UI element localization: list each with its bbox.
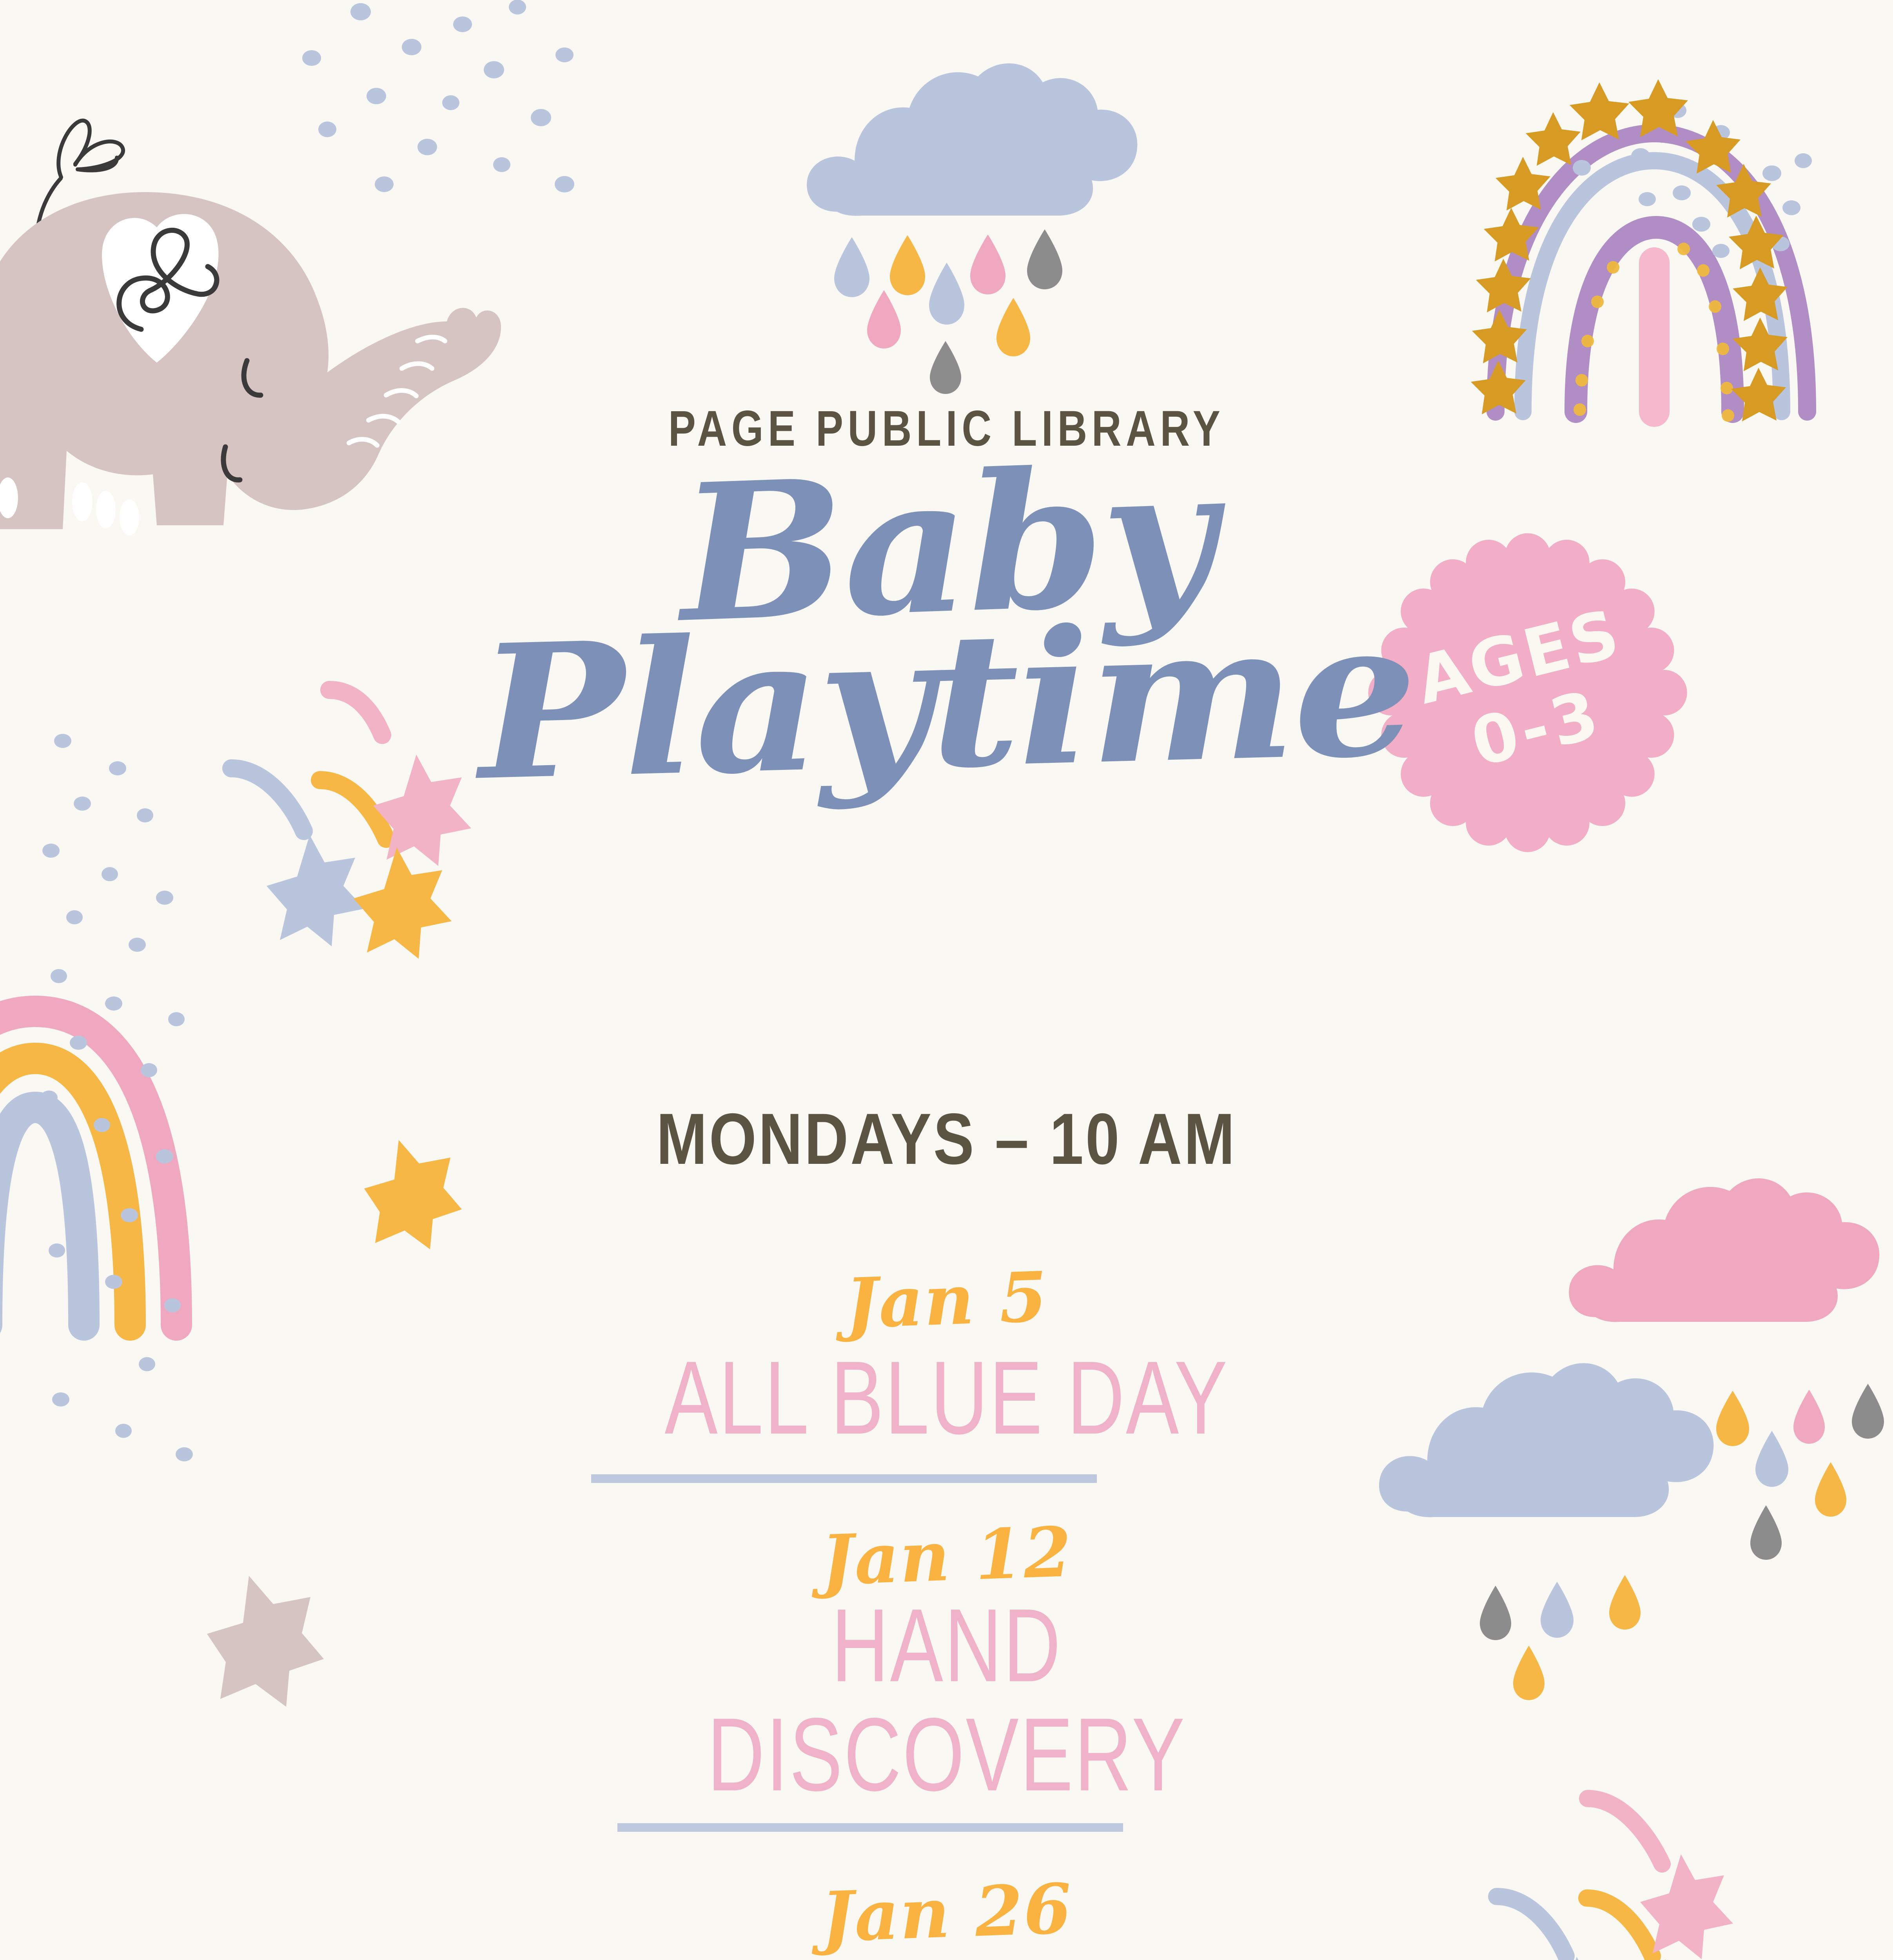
- event-divider: [617, 1823, 1123, 1832]
- flyer-canvas: AGES 0-3 PAGE PUBLIC LIBRARY Baby Playti…: [0, 0, 1893, 1960]
- flyer-title: Baby Playtime: [0, 459, 1893, 786]
- event-date: Jan 5: [568, 1253, 1326, 1348]
- event-date: Jan 26: [568, 1866, 1326, 1960]
- event-divider: [591, 1474, 1097, 1483]
- event-name: HAND DISCOVERY: [606, 1591, 1287, 1809]
- event-name: OPEN ART PLAY: [606, 1955, 1287, 1960]
- event-item: Jan 12 HAND DISCOVERY: [568, 1522, 1325, 1832]
- event-item: Jan 26 OPEN ART PLAY: [568, 1879, 1325, 1960]
- event-name: ALL BLUE DAY: [606, 1343, 1287, 1452]
- event-list: Jan 5 ALL BLUE DAY Jan 12 HAND DISCOVERY…: [568, 1266, 1325, 1960]
- schedule-recurrence: MONDAYS – 10 AM: [151, 1098, 1741, 1181]
- event-item: Jan 5 ALL BLUE DAY: [568, 1266, 1325, 1483]
